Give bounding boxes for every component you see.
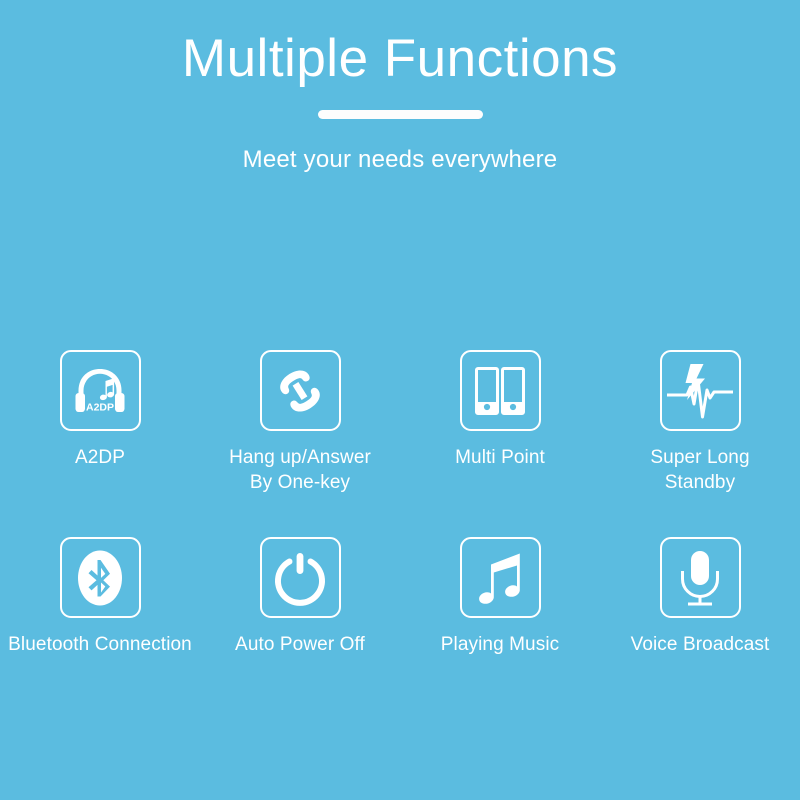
microphone-icon xyxy=(674,549,726,607)
feature-item-voice-broadcast[interactable]: Voice Broadcast xyxy=(600,515,800,700)
feature-item-bluetooth[interactable]: Bluetooth Connection xyxy=(0,515,200,700)
two-phones-icon xyxy=(473,365,527,417)
feature-icon-box xyxy=(460,537,541,618)
feature-icon-box xyxy=(60,537,141,618)
power-button-icon xyxy=(272,550,328,606)
headphones-a2dp-icon: A2DP xyxy=(72,365,128,417)
feature-label: Multi Point xyxy=(455,445,545,470)
page-subtitle: Meet your needs everywhere xyxy=(0,119,800,174)
feature-item-multi-point[interactable]: Multi Point xyxy=(400,330,600,515)
feature-label: A2DP xyxy=(75,445,125,470)
feature-label: Bluetooth Connection xyxy=(8,632,192,657)
feature-icon-box xyxy=(260,537,341,618)
feature-item-auto-power-off[interactable]: Auto Power Off xyxy=(200,515,400,700)
feature-row: Bluetooth Connection Auto Power Off xyxy=(0,515,800,700)
music-note-icon xyxy=(476,550,524,606)
a2dp-icon-text: A2DP xyxy=(86,401,114,413)
feature-item-hangup-answer[interactable]: Hang up/Answer By One-key xyxy=(200,330,400,515)
feature-row: A2DP A2DP xyxy=(0,330,800,515)
feature-label: Auto Power Off xyxy=(235,632,365,657)
feature-icon-box: A2DP xyxy=(60,350,141,431)
title-divider xyxy=(318,110,483,119)
feature-label: Voice Broadcast xyxy=(631,632,770,657)
page-title: Multiple Functions xyxy=(0,0,800,88)
feature-icon-box xyxy=(460,350,541,431)
bluetooth-icon xyxy=(74,548,126,608)
feature-item-a2dp[interactable]: A2DP A2DP xyxy=(0,330,200,515)
feature-label: Super Long Standby xyxy=(650,445,749,495)
phone-handset-icon xyxy=(274,365,326,417)
feature-item-playing-music[interactable]: Playing Music xyxy=(400,515,600,700)
feature-label: Playing Music xyxy=(441,632,560,657)
promo-page: Multiple Functions Meet your needs every… xyxy=(0,0,800,800)
lightning-ecg-icon xyxy=(667,362,733,420)
feature-icon-box xyxy=(660,537,741,618)
page-header: Multiple Functions Meet your needs every… xyxy=(0,0,800,174)
feature-item-super-long-standby[interactable]: Super Long Standby xyxy=(600,330,800,515)
feature-label: Hang up/Answer By One-key xyxy=(229,445,371,495)
feature-icon-box xyxy=(660,350,741,431)
feature-grid: A2DP A2DP xyxy=(0,330,800,700)
feature-icon-box xyxy=(260,350,341,431)
